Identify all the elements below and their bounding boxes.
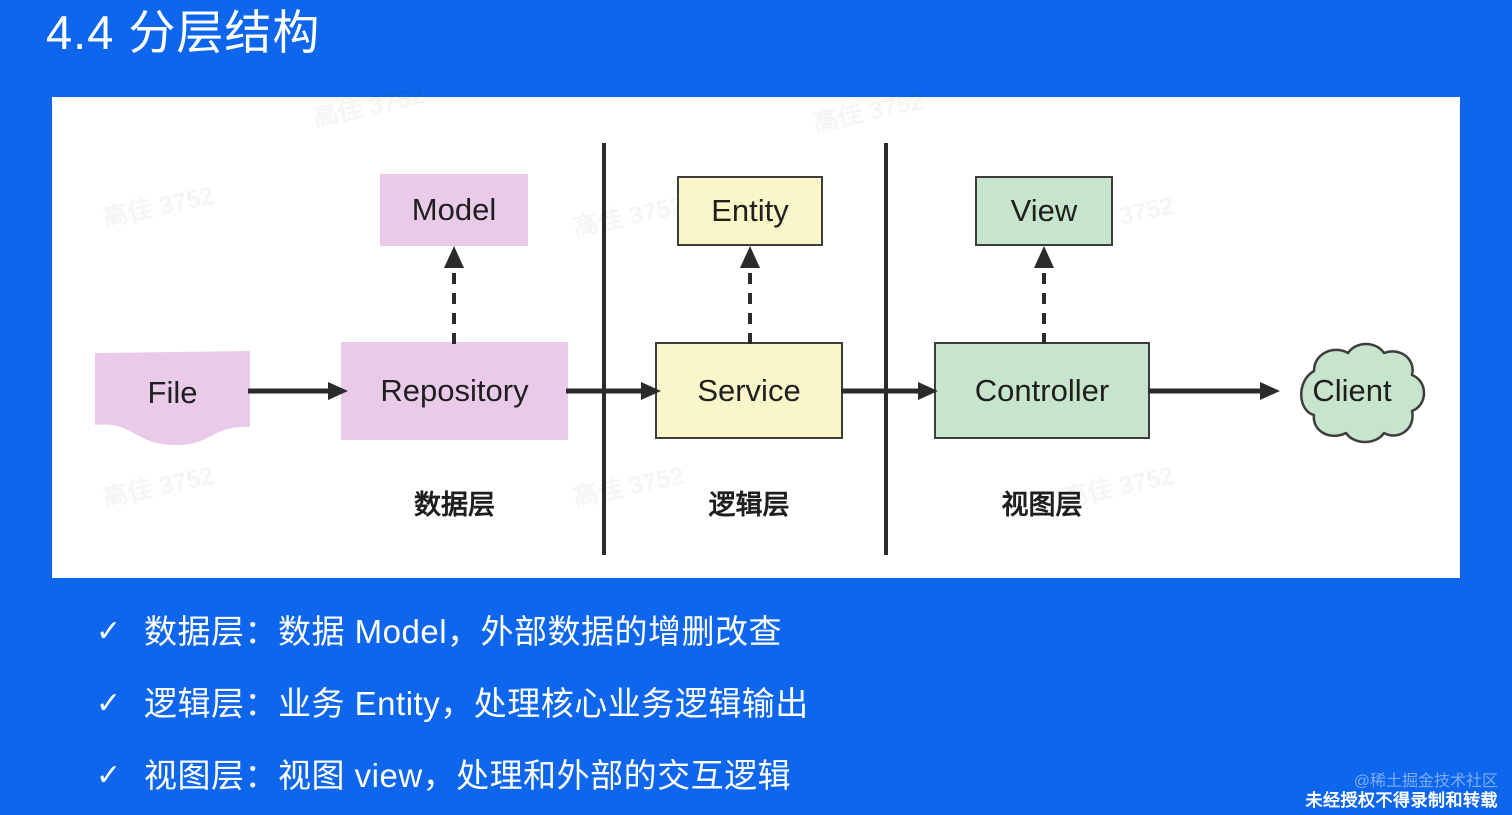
panel-watermark: 高佳 3752 — [809, 81, 927, 140]
watermark-notice: 未经授权不得录制和转载 — [1306, 791, 1499, 811]
dashed-arrow-service-to-entity — [737, 246, 763, 344]
bullet-text: 逻辑层：业务 Entity，处理核心业务逻辑输出 — [144, 684, 809, 724]
diagram-node-controller[interactable]: Controller — [934, 342, 1150, 439]
panel-watermark: 高佳 3752 — [569, 186, 687, 245]
bullet-text: 视图层：视图 view，处理和外部的交互逻辑 — [144, 756, 791, 796]
diagram-node-model[interactable]: Model — [380, 174, 528, 246]
slide-root: 4.4 分层结构 高佳 3752 高佳 3752 高佳 3752 高佳 3752… — [0, 0, 1512, 815]
node-label: View — [1011, 193, 1078, 229]
flow-arrow-service-to-controller — [841, 378, 938, 404]
diagram-panel: 高佳 3752 高佳 3752 高佳 3752 高佳 3752 高佳 3752 … — [52, 97, 1460, 578]
layer-divider-2 — [884, 143, 888, 555]
flow-arrow-controller-to-client — [1148, 378, 1280, 404]
bullet-item-view-layer: ✓ 视图层：视图 view，处理和外部的交互逻辑 — [96, 740, 1296, 812]
layer-caption-view: 视图层 — [934, 483, 1150, 522]
diagram-node-file[interactable]: File — [95, 351, 250, 447]
check-icon: ✓ — [96, 761, 144, 791]
flow-arrow-file-to-repository — [248, 378, 348, 404]
bullet-item-logic-layer: ✓ 逻辑层：业务 Entity，处理核心业务逻辑输出 — [96, 668, 1296, 740]
diagram-node-repository[interactable]: Repository — [341, 342, 568, 440]
layer-divider-1 — [602, 143, 606, 555]
bullet-text: 数据层：数据 Model，外部数据的增删改查 — [144, 612, 782, 652]
watermark-handle: @稀土掘金技术社区 — [1306, 773, 1499, 791]
node-label: Client — [1312, 373, 1391, 409]
node-label: Repository — [380, 373, 528, 409]
diagram-node-entity[interactable]: Entity — [677, 176, 823, 246]
check-icon: ✓ — [96, 617, 144, 647]
diagram-node-client[interactable]: Client — [1274, 337, 1430, 445]
corner-watermark: @稀土掘金技术社区 未经授权不得录制和转载 — [1306, 773, 1499, 811]
bullet-list: ✓ 数据层：数据 Model，外部数据的增删改查 ✓ 逻辑层：业务 Entity… — [96, 596, 1296, 812]
layer-caption-data: 数据层 — [341, 483, 568, 522]
node-label: Entity — [711, 193, 789, 229]
node-label: Controller — [975, 373, 1109, 409]
bullet-item-data-layer: ✓ 数据层：数据 Model，外部数据的增删改查 — [96, 596, 1296, 668]
flow-arrow-repository-to-service — [566, 378, 661, 404]
node-label: Service — [697, 373, 800, 409]
diagram-node-service[interactable]: Service — [655, 342, 843, 439]
dashed-arrow-repository-to-model — [441, 246, 467, 344]
diagram-node-view[interactable]: View — [975, 176, 1113, 246]
page-title: 4.4 分层结构 — [46, 2, 320, 64]
panel-watermark: 高佳 3752 — [309, 76, 427, 135]
dashed-arrow-controller-to-view — [1031, 246, 1057, 344]
panel-watermark: 高佳 3752 — [99, 456, 217, 515]
node-label: File — [148, 375, 198, 411]
panel-watermark: 高佳 3752 — [99, 176, 217, 235]
node-label: Model — [412, 192, 496, 228]
layer-caption-logic: 逻辑层 — [655, 483, 843, 522]
check-icon: ✓ — [96, 689, 144, 719]
